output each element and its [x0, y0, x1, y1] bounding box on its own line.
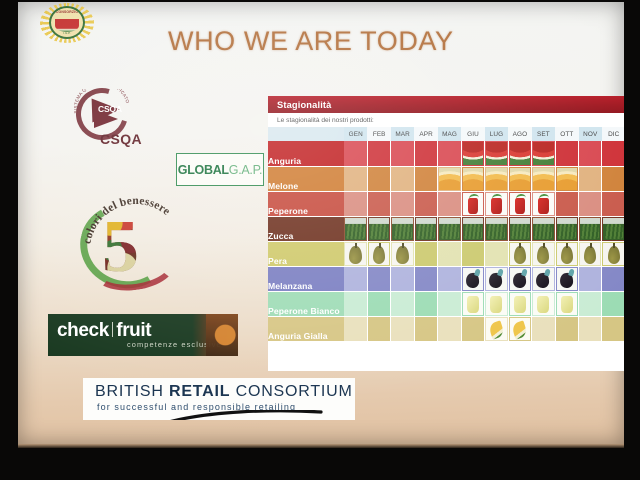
- season-cell-pera-mar: [391, 241, 414, 266]
- consorzio-seal-logo: CONSORZIO I.G.P.: [40, 3, 94, 43]
- season-cell-melanzana-set: [532, 266, 555, 291]
- checkfruit-word-fruit: fruit: [116, 320, 151, 341]
- month-header-lug: LUG: [485, 127, 508, 141]
- season-cell-pera-gen: [344, 241, 367, 266]
- season-cell-peperone-bianco-feb: [367, 291, 390, 316]
- season-cell-peperone-apr: [414, 191, 437, 216]
- table-row: Zucca: [268, 216, 624, 241]
- season-cell-zucca-apr: [414, 216, 437, 241]
- check-fruit-logo: checkfruit competenze esclusive: [48, 314, 238, 356]
- season-cell-anguria-ago: [508, 141, 531, 166]
- season-cell-anguria-gialla-feb: [367, 316, 390, 341]
- table-row: Melanzana: [268, 266, 624, 291]
- product-thumbnail-icon: [533, 218, 553, 240]
- month-header-feb: FEB: [367, 127, 390, 141]
- season-cell-pera-nov: [579, 241, 602, 266]
- season-cell-melone-giu: [461, 166, 484, 191]
- product-thumbnail-icon: [439, 218, 459, 240]
- season-cell-peperone-bianco-mag: [438, 291, 461, 316]
- table-row: Melone: [268, 166, 624, 191]
- season-cell-zucca-gen: [344, 216, 367, 241]
- product-label-melanzana: Melanzana: [268, 266, 344, 291]
- season-cell-melone-apr: [414, 166, 437, 191]
- season-cell-pera-lug: [485, 241, 508, 266]
- seasonality-table: GENFEBMARAPRMAGGIULUGAGOSETOTTNOVDIC Ang…: [268, 127, 624, 342]
- season-cell-peperone-bianco-apr: [414, 291, 437, 316]
- csqa-mark-label: CSQA: [98, 104, 122, 114]
- season-cell-anguria-gen: [344, 141, 367, 166]
- season-cell-zucca-set: [532, 216, 555, 241]
- brc-word-retail: RETAIL: [169, 383, 230, 400]
- month-header-mag: MAG: [438, 127, 461, 141]
- season-cell-peperone-ago: [508, 191, 531, 216]
- product-thumbnail-icon: [533, 268, 553, 290]
- product-thumbnail-icon: [557, 293, 577, 315]
- season-cell-anguria-dic: [602, 141, 624, 166]
- season-cell-peperone-mag: [438, 191, 461, 216]
- season-cell-melone-ott: [555, 166, 578, 191]
- product-thumbnail-icon: [463, 168, 483, 190]
- product-thumbnail-icon: [510, 193, 530, 215]
- product-thumbnail-icon: [463, 268, 483, 290]
- season-cell-zucca-feb: [367, 216, 390, 241]
- numeral-five: 5: [102, 210, 139, 284]
- season-cell-pera-apr: [414, 241, 437, 266]
- season-cell-peperone-mar: [391, 191, 414, 216]
- season-cell-anguria-mag: [438, 141, 461, 166]
- seasonality-table-head: GENFEBMARAPRMAGGIULUGAGOSETOTTNOVDIC: [268, 127, 624, 141]
- product-thumbnail-icon: [533, 243, 553, 265]
- product-thumbnail-icon: [557, 168, 577, 190]
- product-thumbnail-icon: [510, 293, 530, 315]
- season-cell-anguria-nov: [579, 141, 602, 166]
- product-thumbnail-icon: [557, 218, 577, 240]
- season-cell-anguria-gialla-giu: [461, 316, 484, 341]
- product-thumbnail-icon: [510, 243, 530, 265]
- product-thumbnail-icon: [486, 318, 506, 340]
- globalgap-light-text: G.A.P.: [229, 163, 262, 177]
- season-cell-peperone-dic: [602, 191, 624, 216]
- table-row: Peperone: [268, 191, 624, 216]
- product-label-peperone-bianco: Peperone Bianco: [268, 291, 344, 316]
- season-cell-peperone-ott: [555, 191, 578, 216]
- season-cell-peperone-lug: [485, 191, 508, 216]
- season-cell-peperone-bianco-lug: [485, 291, 508, 316]
- seal-band-label: I.G.P.: [51, 31, 83, 35]
- product-thumbnail-icon: [557, 243, 577, 265]
- checkfruit-word-check: check: [57, 320, 109, 341]
- season-cell-melone-mar: [391, 166, 414, 191]
- product-thumbnail-icon: [486, 268, 506, 290]
- seal-badge: CONSORZIO I.G.P.: [49, 6, 85, 39]
- month-header-set: SET: [532, 127, 555, 141]
- table-row: Peperone Bianco: [268, 291, 624, 316]
- season-cell-zucca-dic: [602, 216, 624, 241]
- season-cell-anguria-gialla-mar: [391, 316, 414, 341]
- season-cell-zucca-giu: [461, 216, 484, 241]
- season-cell-pera-feb: [367, 241, 390, 266]
- season-cell-peperone-gen: [344, 191, 367, 216]
- season-cell-melone-gen: [344, 166, 367, 191]
- brc-word-british: BRITISH: [95, 383, 169, 400]
- product-thumbnail-icon: [463, 218, 483, 240]
- season-cell-melanzana-giu: [461, 266, 484, 291]
- season-cell-pera-set: [532, 241, 555, 266]
- season-cell-zucca-nov: [579, 216, 602, 241]
- checkfruit-tagline: competenze esclusive: [127, 340, 222, 349]
- product-label-pera: Pera: [268, 241, 344, 266]
- season-cell-anguria-gialla-set: [532, 316, 555, 341]
- season-cell-melanzana-apr: [414, 266, 437, 291]
- product-thumbnail-icon: [369, 243, 389, 265]
- product-thumbnail-icon: [580, 243, 600, 265]
- season-cell-anguria-gialla-apr: [414, 316, 437, 341]
- product-column-header: [268, 127, 344, 141]
- brc-wordmark: BRITISH RETAIL CONSORTIUM: [95, 383, 353, 401]
- projected-slide-photo: WHO WE ARE TODAY CONSORZIO I.G.P. SISTEM…: [0, 0, 640, 480]
- season-cell-anguria-gialla-nov: [579, 316, 602, 341]
- cinque-colori-del-benessere-logo: 5 colori del benessere: [80, 188, 192, 296]
- brc-swoosh-icon: [163, 410, 323, 420]
- table-row: Anguria Gialla: [268, 316, 624, 341]
- season-cell-anguria-lug: [485, 141, 508, 166]
- product-label-anguria: Anguria: [268, 141, 344, 166]
- season-cell-melone-mag: [438, 166, 461, 191]
- month-header-nov: NOV: [579, 127, 602, 141]
- product-thumbnail-icon: [486, 168, 506, 190]
- product-thumbnail-icon: [603, 243, 624, 265]
- season-cell-melanzana-mar: [391, 266, 414, 291]
- season-cell-pera-dic: [602, 241, 624, 266]
- season-cell-anguria-feb: [367, 141, 390, 166]
- month-header-apr: APR: [414, 127, 437, 141]
- season-cell-zucca-mag: [438, 216, 461, 241]
- season-cell-pera-giu: [461, 241, 484, 266]
- season-cell-anguria-giu: [461, 141, 484, 166]
- product-label-zucca: Zucca: [268, 216, 344, 241]
- season-cell-melanzana-mag: [438, 266, 461, 291]
- product-thumbnail-icon: [486, 293, 506, 315]
- product-thumbnail-icon: [486, 193, 506, 215]
- product-thumbnail-icon: [439, 168, 459, 190]
- season-cell-melanzana-dic: [602, 266, 624, 291]
- page-title: WHO WE ARE TODAY: [168, 26, 548, 57]
- season-cell-peperone-bianco-set: [532, 291, 555, 316]
- season-cell-zucca-ago: [508, 216, 531, 241]
- presentation-slide: WHO WE ARE TODAY CONSORZIO I.G.P. SISTEM…: [18, 2, 624, 444]
- globalgap-logo: GLOBALG.A.P.: [176, 153, 264, 186]
- season-cell-pera-ott: [555, 241, 578, 266]
- product-thumbnail-icon: [392, 218, 412, 240]
- season-cell-melone-feb: [367, 166, 390, 191]
- season-cell-peperone-giu: [461, 191, 484, 216]
- season-cell-melanzana-gen: [344, 266, 367, 291]
- season-cell-zucca-mar: [391, 216, 414, 241]
- table-row: Pera: [268, 241, 624, 266]
- season-cell-anguria-mar: [391, 141, 414, 166]
- panel-title: Stagionalità: [268, 100, 332, 110]
- season-cell-anguria-gialla-lug: [485, 316, 508, 341]
- product-thumbnail-icon: [533, 142, 553, 165]
- product-thumbnail-icon: [510, 142, 530, 165]
- season-cell-melone-dic: [602, 166, 624, 191]
- product-thumbnail-icon: [510, 218, 530, 240]
- panel-header: Stagionalità: [268, 96, 624, 113]
- season-cell-melanzana-feb: [367, 266, 390, 291]
- product-thumbnail-icon: [416, 218, 436, 240]
- season-cell-anguria-gialla-gen: [344, 316, 367, 341]
- product-thumbnail-icon: [463, 142, 483, 165]
- product-thumbnail-icon: [486, 218, 506, 240]
- checkfruit-divider: [112, 322, 113, 337]
- product-thumbnail-icon: [603, 218, 624, 240]
- month-header-ago: AGO: [508, 127, 531, 141]
- season-cell-melanzana-ott: [555, 266, 578, 291]
- product-thumbnail-icon: [486, 142, 506, 165]
- season-cell-melanzana-ago: [508, 266, 531, 291]
- table-row: Anguria: [268, 141, 624, 166]
- product-thumbnail-icon: [557, 268, 577, 290]
- product-thumbnail-icon: [533, 193, 553, 215]
- season-cell-peperone-nov: [579, 191, 602, 216]
- screen-bottom-edge: [18, 444, 624, 448]
- product-label-anguria-gialla: Anguria Gialla: [268, 316, 344, 341]
- season-cell-anguria-gialla-dic: [602, 316, 624, 341]
- product-thumbnail-icon: [463, 293, 483, 315]
- globalgap-wordmark: GLOBALG.A.P.: [178, 163, 262, 177]
- season-cell-peperone-feb: [367, 191, 390, 216]
- globalgap-bold-text: GLOBAL: [178, 163, 229, 177]
- season-cell-peperone-bianco-dic: [602, 291, 624, 316]
- season-cell-anguria-gialla-ott: [555, 316, 578, 341]
- csqa-wordmark: CSQA: [100, 131, 142, 147]
- month-header-ott: OTT: [555, 127, 578, 141]
- season-cell-anguria-gialla-ago: [508, 316, 531, 341]
- british-retail-consortium-logo: BRITISH RETAIL CONSORTIUM for successful…: [83, 378, 355, 420]
- season-cell-peperone-bianco-ago: [508, 291, 531, 316]
- csqa-logo: SISTEMA QUALITA CERTIFICATO CSQA CSQA: [72, 88, 164, 150]
- season-cell-peperone-bianco-ott: [555, 291, 578, 316]
- season-cell-anguria-ott: [555, 141, 578, 166]
- season-cell-pera-mag: [438, 241, 461, 266]
- product-thumbnail-icon: [463, 193, 483, 215]
- product-label-melone: Melone: [268, 166, 344, 191]
- product-thumbnail-icon: [369, 218, 389, 240]
- seal-arc-label: CONSORZIO: [51, 10, 83, 14]
- season-cell-peperone-set: [532, 191, 555, 216]
- season-cell-zucca-lug: [485, 216, 508, 241]
- season-cell-peperone-bianco-nov: [579, 291, 602, 316]
- season-cell-peperone-bianco-giu: [461, 291, 484, 316]
- season-cell-peperone-bianco-mar: [391, 291, 414, 316]
- product-thumbnail-icon: [345, 218, 366, 240]
- product-thumbnail-icon: [392, 243, 412, 265]
- seasonality-table-body: AnguriaMelonePeperoneZuccaPeraMelanzanaP…: [268, 141, 624, 341]
- season-cell-melone-ago: [508, 166, 531, 191]
- season-cell-pera-ago: [508, 241, 531, 266]
- season-cell-melone-set: [532, 166, 555, 191]
- season-cell-zucca-ott: [555, 216, 578, 241]
- product-thumbnail-icon: [345, 243, 366, 265]
- month-header-row: GENFEBMARAPRMAGGIULUGAGOSETOTTNOVDIC: [268, 127, 624, 141]
- season-cell-melanzana-nov: [579, 266, 602, 291]
- season-cell-anguria-gialla-mag: [438, 316, 461, 341]
- product-thumbnail-icon: [510, 168, 530, 190]
- season-cell-melone-nov: [579, 166, 602, 191]
- season-cell-peperone-bianco-gen: [344, 291, 367, 316]
- month-header-mar: MAR: [391, 127, 414, 141]
- month-header-giu: GIU: [461, 127, 484, 141]
- checkfruit-wordmark: checkfruit: [57, 320, 151, 342]
- month-header-gen: GEN: [344, 127, 367, 141]
- month-header-dic: DIC: [602, 127, 624, 141]
- season-cell-melone-lug: [485, 166, 508, 191]
- product-thumbnail-icon: [533, 293, 553, 315]
- product-thumbnail-icon: [533, 168, 553, 190]
- panel-subtitle: Le stagionalità dei nostri prodotti:: [268, 113, 624, 127]
- brc-word-consortium: CONSORTIUM: [230, 383, 352, 400]
- season-cell-melanzana-lug: [485, 266, 508, 291]
- product-thumbnail-icon: [510, 268, 530, 290]
- seasonality-panel: Stagionalità Le stagionalità dei nostri …: [268, 96, 624, 371]
- product-label-peperone: Peperone: [268, 191, 344, 216]
- product-thumbnail-icon: [580, 218, 600, 240]
- season-cell-anguria-set: [532, 141, 555, 166]
- season-cell-anguria-apr: [414, 141, 437, 166]
- product-thumbnail-icon: [510, 318, 530, 340]
